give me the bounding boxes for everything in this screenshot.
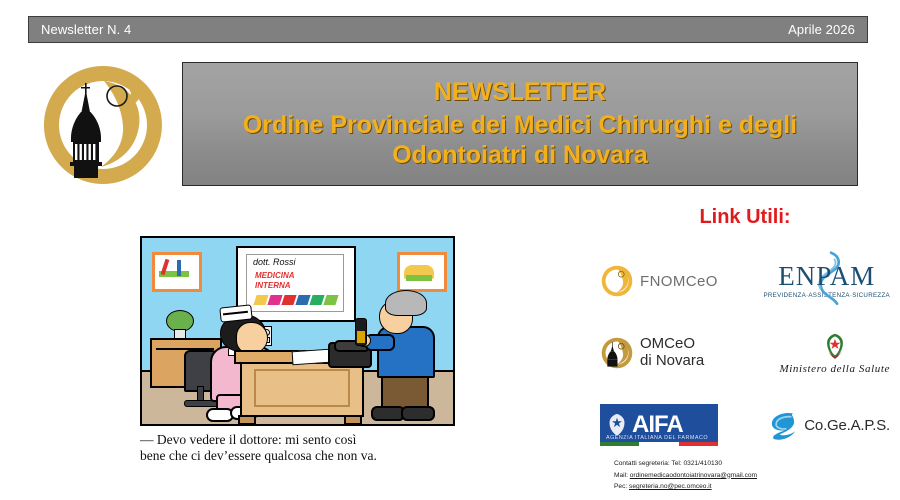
nameplate-doctor-name: dott. Rossi	[253, 257, 296, 267]
useful-links-grid: FNOMCeO ENPAM PREVIDENZA·ASSISTENZA·SICU…	[600, 245, 890, 461]
contacts-pec-link[interactable]: segreteria.no@pec.omceo.it	[629, 483, 712, 490]
contacts-block: Contatti segreteria: Tel: 0321/410130 Ma…	[614, 458, 757, 493]
aifa-emblem-icon	[606, 413, 628, 437]
nameplate-speciality-line1: MEDICINA	[255, 271, 295, 280]
cartoon-caption-line2: bene che ci dev’essere qualcosa che non …	[140, 448, 455, 464]
link-aifa[interactable]: AIFA AGENZIA ITALIANA DEL FARMACO	[600, 404, 718, 446]
fnomceo-icon	[600, 264, 634, 298]
omceo-label-line1: OMCeO	[640, 335, 695, 352]
contacts-phone-line: Contatti segreteria: Tel: 0321/410130	[614, 458, 757, 470]
omceo-novara-label: OMCeO di Novara	[640, 336, 704, 370]
contacts-mail-line: Mail: ordinemedicaodontoiatrinovara@gmai…	[614, 470, 757, 482]
cogeaps-label: Co.Ge.A.P.S.	[804, 417, 890, 434]
cartoon-caption-line1: — Devo vedere il dottore: mi sento così	[140, 432, 455, 448]
link-omceo-novara[interactable]: OMCeO di Novara	[600, 336, 704, 370]
useful-links-row-3: AIFA AGENZIA ITALIANA DEL FARMACO Co.Ge.…	[600, 389, 890, 461]
contacts-pec-prefix: Pec:	[614, 483, 629, 490]
cartoon-caption: — Devo vedere il dottore: mi sento così …	[140, 432, 455, 464]
contacts-pec-line: Pec: segreteria.no@pec.omceo.it	[614, 481, 757, 493]
italian-flag-stripe	[600, 442, 718, 446]
link-fnomceo[interactable]: FNOMCeO	[600, 264, 718, 298]
banner-subtitle-line1: Ordine Provinciale dei Medici Chirurghi …	[237, 110, 803, 140]
newsletter-title-banner: NEWSLETTER Ordine Provinciale dei Medici…	[182, 62, 858, 186]
useful-links-row-1: FNOMCeO ENPAM PREVIDENZA·ASSISTENZA·SICU…	[600, 245, 890, 317]
link-enpam[interactable]: ENPAM PREVIDENZA·ASSISTENZA·SICUREZZA	[763, 263, 890, 299]
wall-picture-right	[397, 252, 447, 292]
cogeaps-icon	[766, 410, 800, 440]
ministero-salute-label: Ministero della Salute	[779, 363, 890, 375]
italian-republic-emblem-icon	[822, 332, 848, 360]
fnomceo-label: FNOMCeO	[640, 273, 718, 290]
omceo-label-line2: di Novara	[640, 352, 704, 369]
newsletter-issue: Newsletter N. 4	[41, 22, 131, 37]
contacts-mail-link[interactable]: ordinemedicaodontoiatrinovara@gmail.com	[630, 472, 757, 479]
useful-links-row-2: OMCeO di Novara Ministero della Salute	[600, 317, 890, 389]
link-ministero-salute[interactable]: Ministero della Salute	[779, 332, 890, 375]
desk-papers	[292, 349, 331, 366]
patient-character	[371, 290, 437, 418]
wall-picture-left	[152, 252, 202, 292]
office-plant	[164, 310, 194, 340]
aifa-tagline: AGENZIA ITALIANA DEL FARMACO	[606, 435, 708, 441]
banner-title: NEWSLETTER	[434, 78, 606, 107]
nameplate-speciality-line2: INTERNA	[255, 281, 291, 290]
link-cogeaps[interactable]: Co.Ge.A.P.S.	[766, 410, 890, 440]
omceo-logo-graphic	[38, 60, 168, 190]
newsletter-topbar: Newsletter N. 4 Aprile 2026	[28, 16, 868, 43]
cartoon-block: dott. Rossi MEDICINA INTERNA	[140, 236, 455, 481]
link-utili-heading: Link Utili:	[595, 206, 895, 229]
cartoon-illustration: dott. Rossi MEDICINA INTERNA	[140, 236, 455, 426]
newsletter-date: Aprile 2026	[788, 22, 855, 37]
omceo-novara-logo	[38, 60, 168, 190]
enpam-label: ENPAM	[778, 263, 875, 290]
banner-subtitle-line2: Odontoiatri di Novara	[386, 140, 654, 170]
omceo-novara-icon	[600, 336, 634, 370]
contacts-mail-prefix: Mail:	[614, 472, 630, 479]
